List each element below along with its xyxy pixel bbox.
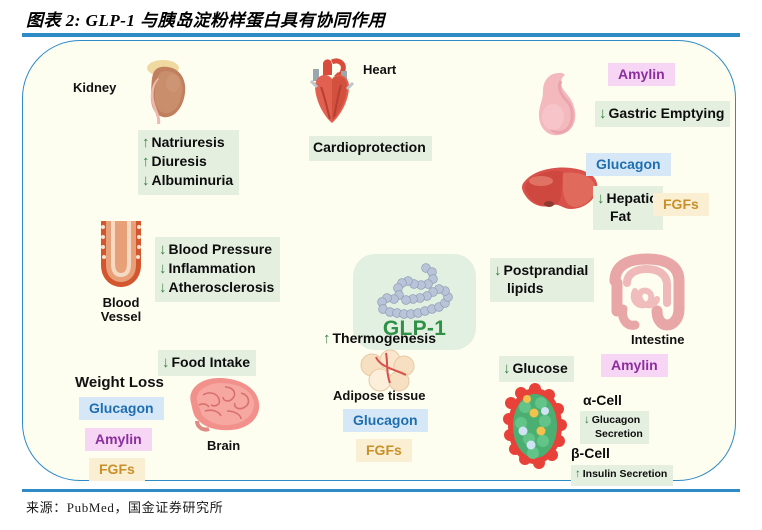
pancreatic-islet-icon xyxy=(501,381,573,471)
intestine-group xyxy=(605,253,689,338)
peptide-chain-icon xyxy=(369,262,461,324)
stomach-group xyxy=(529,67,593,146)
title-divider xyxy=(22,33,740,37)
footer-divider xyxy=(22,489,740,492)
intestine-effects: ↓ Postprandial lipids xyxy=(490,258,594,302)
effect-text: Glucagon xyxy=(592,414,640,427)
effect-line: ↓ Glucose xyxy=(503,359,568,378)
effect-line: ↑ Diuresis xyxy=(142,152,233,171)
alpha-cell-heading: α-Cell xyxy=(583,392,622,408)
arrow-down-icon: ↓ xyxy=(159,240,167,259)
stomach-icon xyxy=(529,67,593,141)
badge-glucagon-label: Glucagon xyxy=(586,153,671,176)
effect-text: Blood Pressure xyxy=(169,241,272,259)
heart-effects: Cardioprotection xyxy=(309,136,432,161)
kidney-label: Kidney xyxy=(73,81,116,95)
arrow-down-icon: ↓ xyxy=(494,261,502,280)
blood-vessel-label-line2: Vessel xyxy=(91,310,151,324)
effect-line: ↓ Gastric Emptying xyxy=(599,104,724,123)
blood-vessel-label-line1: Blood xyxy=(91,296,151,310)
effect-line: ↓ Albuminuria xyxy=(142,171,233,190)
arrow-up-icon: ↑ xyxy=(323,329,331,348)
brain-badge-amylin: Amylin xyxy=(85,428,152,451)
effect-text: Fat xyxy=(610,208,631,226)
brain-icon xyxy=(175,373,267,437)
badge-fgfs-label: FGFs xyxy=(89,458,145,481)
arrow-down-icon: ↓ xyxy=(159,259,167,278)
effect-line: Fat xyxy=(597,208,657,226)
source-note: 来源：PubMed，国金证券研究所 xyxy=(26,497,223,516)
effect-line: ↓ Atherosclerosis xyxy=(159,278,274,297)
effect-text: Natriuresis xyxy=(152,134,225,152)
beta-cell-effects: ↑ Insulin Secretion xyxy=(571,465,673,486)
effect-line: ↑ Insulin Secretion xyxy=(575,468,667,482)
badge-amylin-label: Amylin xyxy=(85,428,152,451)
arrow-down-icon: ↓ xyxy=(159,278,167,297)
effect-line: ↓ Glucagon xyxy=(584,414,643,428)
effect-text: Albuminuria xyxy=(152,172,234,190)
arrow-down-icon: ↓ xyxy=(599,104,607,123)
effect-line: ↓ Hepatic xyxy=(597,189,657,208)
arrow-down-icon: ↓ xyxy=(142,171,150,190)
heart-icon xyxy=(301,57,363,129)
brain-group xyxy=(175,373,267,442)
heart-label: Heart xyxy=(363,63,396,77)
stomach-badge-amylin: Amylin xyxy=(608,63,675,86)
effect-text: Atherosclerosis xyxy=(169,279,275,297)
effect-text: Cardioprotection xyxy=(313,139,426,157)
badge-fgfs-label: FGFs xyxy=(653,193,709,216)
effect-line: ↑ Thermogenesis xyxy=(323,329,436,348)
kidney-effects: ↑ Natriuresis ↑ Diuresis ↓ Albuminuria xyxy=(138,130,239,195)
arrow-down-icon: ↓ xyxy=(162,353,170,372)
effect-line: lipids xyxy=(494,280,588,298)
pancreas-group xyxy=(501,381,573,476)
effect-text: Thermogenesis xyxy=(333,330,436,348)
arrow-up-icon: ↑ xyxy=(142,152,150,171)
stomach-effects: ↓ Gastric Emptying xyxy=(595,101,730,127)
pancreas-badge-amylin: Amylin xyxy=(601,354,668,377)
arrow-up-icon: ↑ xyxy=(575,468,581,482)
effect-text: Hepatic xyxy=(607,190,658,208)
blood-vessel-group xyxy=(93,221,149,300)
effect-text: Insulin Secretion xyxy=(583,468,668,481)
kidney-icon xyxy=(135,59,191,125)
effect-line: ↓ Food Intake xyxy=(162,353,250,372)
liver-badge-fgfs: FGFs xyxy=(653,193,709,216)
arrow-down-icon: ↓ xyxy=(584,414,590,428)
liver-badge-glucagon: Glucagon xyxy=(586,153,671,176)
blood-vessel-icon xyxy=(93,221,149,295)
effect-text: Secretion xyxy=(595,428,643,441)
badge-glucagon-label: Glucagon xyxy=(343,409,428,432)
effect-line: ↓ Postprandial xyxy=(494,261,588,280)
effect-text: Food Intake xyxy=(172,354,251,372)
adipose-badge-fgfs: FGFs xyxy=(356,439,412,462)
effect-text: Postprandial xyxy=(504,262,589,280)
adipose-label: Adipose tissue xyxy=(333,389,425,403)
alpha-cell-effects: ↓ Glucagon Secretion xyxy=(580,411,649,444)
adipose-badge-glucagon: Glucagon xyxy=(343,409,428,432)
blood-vessel-effects: ↓ Blood Pressure ↓ Inflammation ↓ Athero… xyxy=(155,237,280,302)
effect-line: ↑ Natriuresis xyxy=(142,133,233,152)
beta-cell-heading: β-Cell xyxy=(571,445,610,461)
effect-line: Secretion xyxy=(584,428,643,441)
effect-text: Glucose xyxy=(513,360,568,378)
arrow-down-icon: ↓ xyxy=(503,359,511,378)
effect-text: Diuresis xyxy=(152,153,207,171)
badge-glucagon-label: Glucagon xyxy=(79,397,164,420)
intestine-label: Intestine xyxy=(631,333,684,347)
arrow-down-icon: ↓ xyxy=(597,189,605,208)
intestine-icon xyxy=(605,253,689,333)
effect-text: Inflammation xyxy=(169,260,256,278)
brain-badge-glucagon: Glucagon xyxy=(79,397,164,420)
badge-fgfs-label: FGFs xyxy=(356,439,412,462)
effect-line: ↓ Blood Pressure xyxy=(159,240,274,259)
pancreas-glucose-effect: ↓ Glucose xyxy=(499,356,574,382)
effect-line: ↓ Inflammation xyxy=(159,259,274,278)
effect-text: lipids xyxy=(507,280,544,298)
figure-panel: Kidney ↑ Natriuresis ↑ Diuresis ↓ Albumi… xyxy=(22,40,736,481)
brain-badge-fgfs: FGFs xyxy=(89,458,145,481)
effect-text: Gastric Emptying xyxy=(609,105,725,123)
page-title: 图表 2: GLP-1 与胰岛淀粉样蛋白具有协同作用 xyxy=(26,6,385,31)
badge-amylin-label: Amylin xyxy=(601,354,668,377)
arrow-up-icon: ↑ xyxy=(142,133,150,152)
badge-amylin-label: Amylin xyxy=(608,63,675,86)
blood-vessel-label: Blood Vessel xyxy=(91,296,151,325)
weight-loss-label: Weight Loss xyxy=(75,375,164,392)
adipose-effects: ↑ Thermogenesis xyxy=(323,329,436,348)
effect-line: Cardioprotection xyxy=(313,139,426,157)
brain-label: Brain xyxy=(207,439,240,453)
